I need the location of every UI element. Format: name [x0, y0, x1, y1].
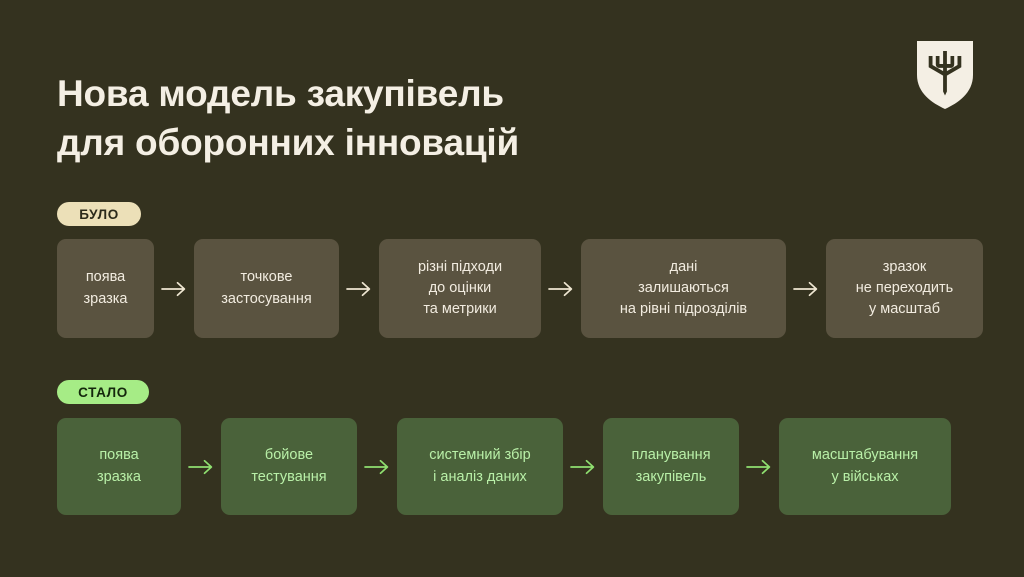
- flow-node: зразок не переходить у масштаб: [826, 239, 983, 338]
- flow-arrow-icon: [339, 239, 379, 338]
- infographic-canvas: Нова модель закупівель для оборонних інн…: [0, 0, 1024, 577]
- flow-node: поява зразка: [57, 239, 154, 338]
- section-badge-after-label: СТАЛО: [78, 385, 128, 400]
- flow-node: бойове тестування: [221, 418, 357, 515]
- flow-node: масштабування у військах: [779, 418, 951, 515]
- flow-row-after: поява зразкабойове тестуваннясистемний з…: [57, 418, 951, 515]
- flow-arrow-icon: [563, 418, 603, 515]
- flow-node: різні підходи до оцінки та метрики: [379, 239, 541, 338]
- flow-arrow-icon: [181, 418, 221, 515]
- flow-arrow-icon: [154, 239, 194, 338]
- page-title: Нова модель закупівель для оборонних інн…: [57, 69, 697, 167]
- section-badge-before-label: БУЛО: [79, 207, 119, 222]
- flow-node: системний збір і аналіз даних: [397, 418, 563, 515]
- section-badge-before: БУЛО: [57, 202, 141, 226]
- flow-row-before: поява зразкаточкове застосуваннярізні пі…: [57, 239, 983, 338]
- flow-node: поява зразка: [57, 418, 181, 515]
- flow-node: точкове застосування: [194, 239, 339, 338]
- flow-node: планування закупівель: [603, 418, 739, 515]
- flow-arrow-icon: [541, 239, 581, 338]
- section-badge-after: СТАЛО: [57, 380, 149, 404]
- flow-arrow-icon: [786, 239, 826, 338]
- flow-node: дані залишаються на рівні підрозділів: [581, 239, 786, 338]
- ukrainian-mod-shield-trident-emblem: [917, 41, 973, 109]
- flow-arrow-icon: [739, 418, 779, 515]
- flow-arrow-icon: [357, 418, 397, 515]
